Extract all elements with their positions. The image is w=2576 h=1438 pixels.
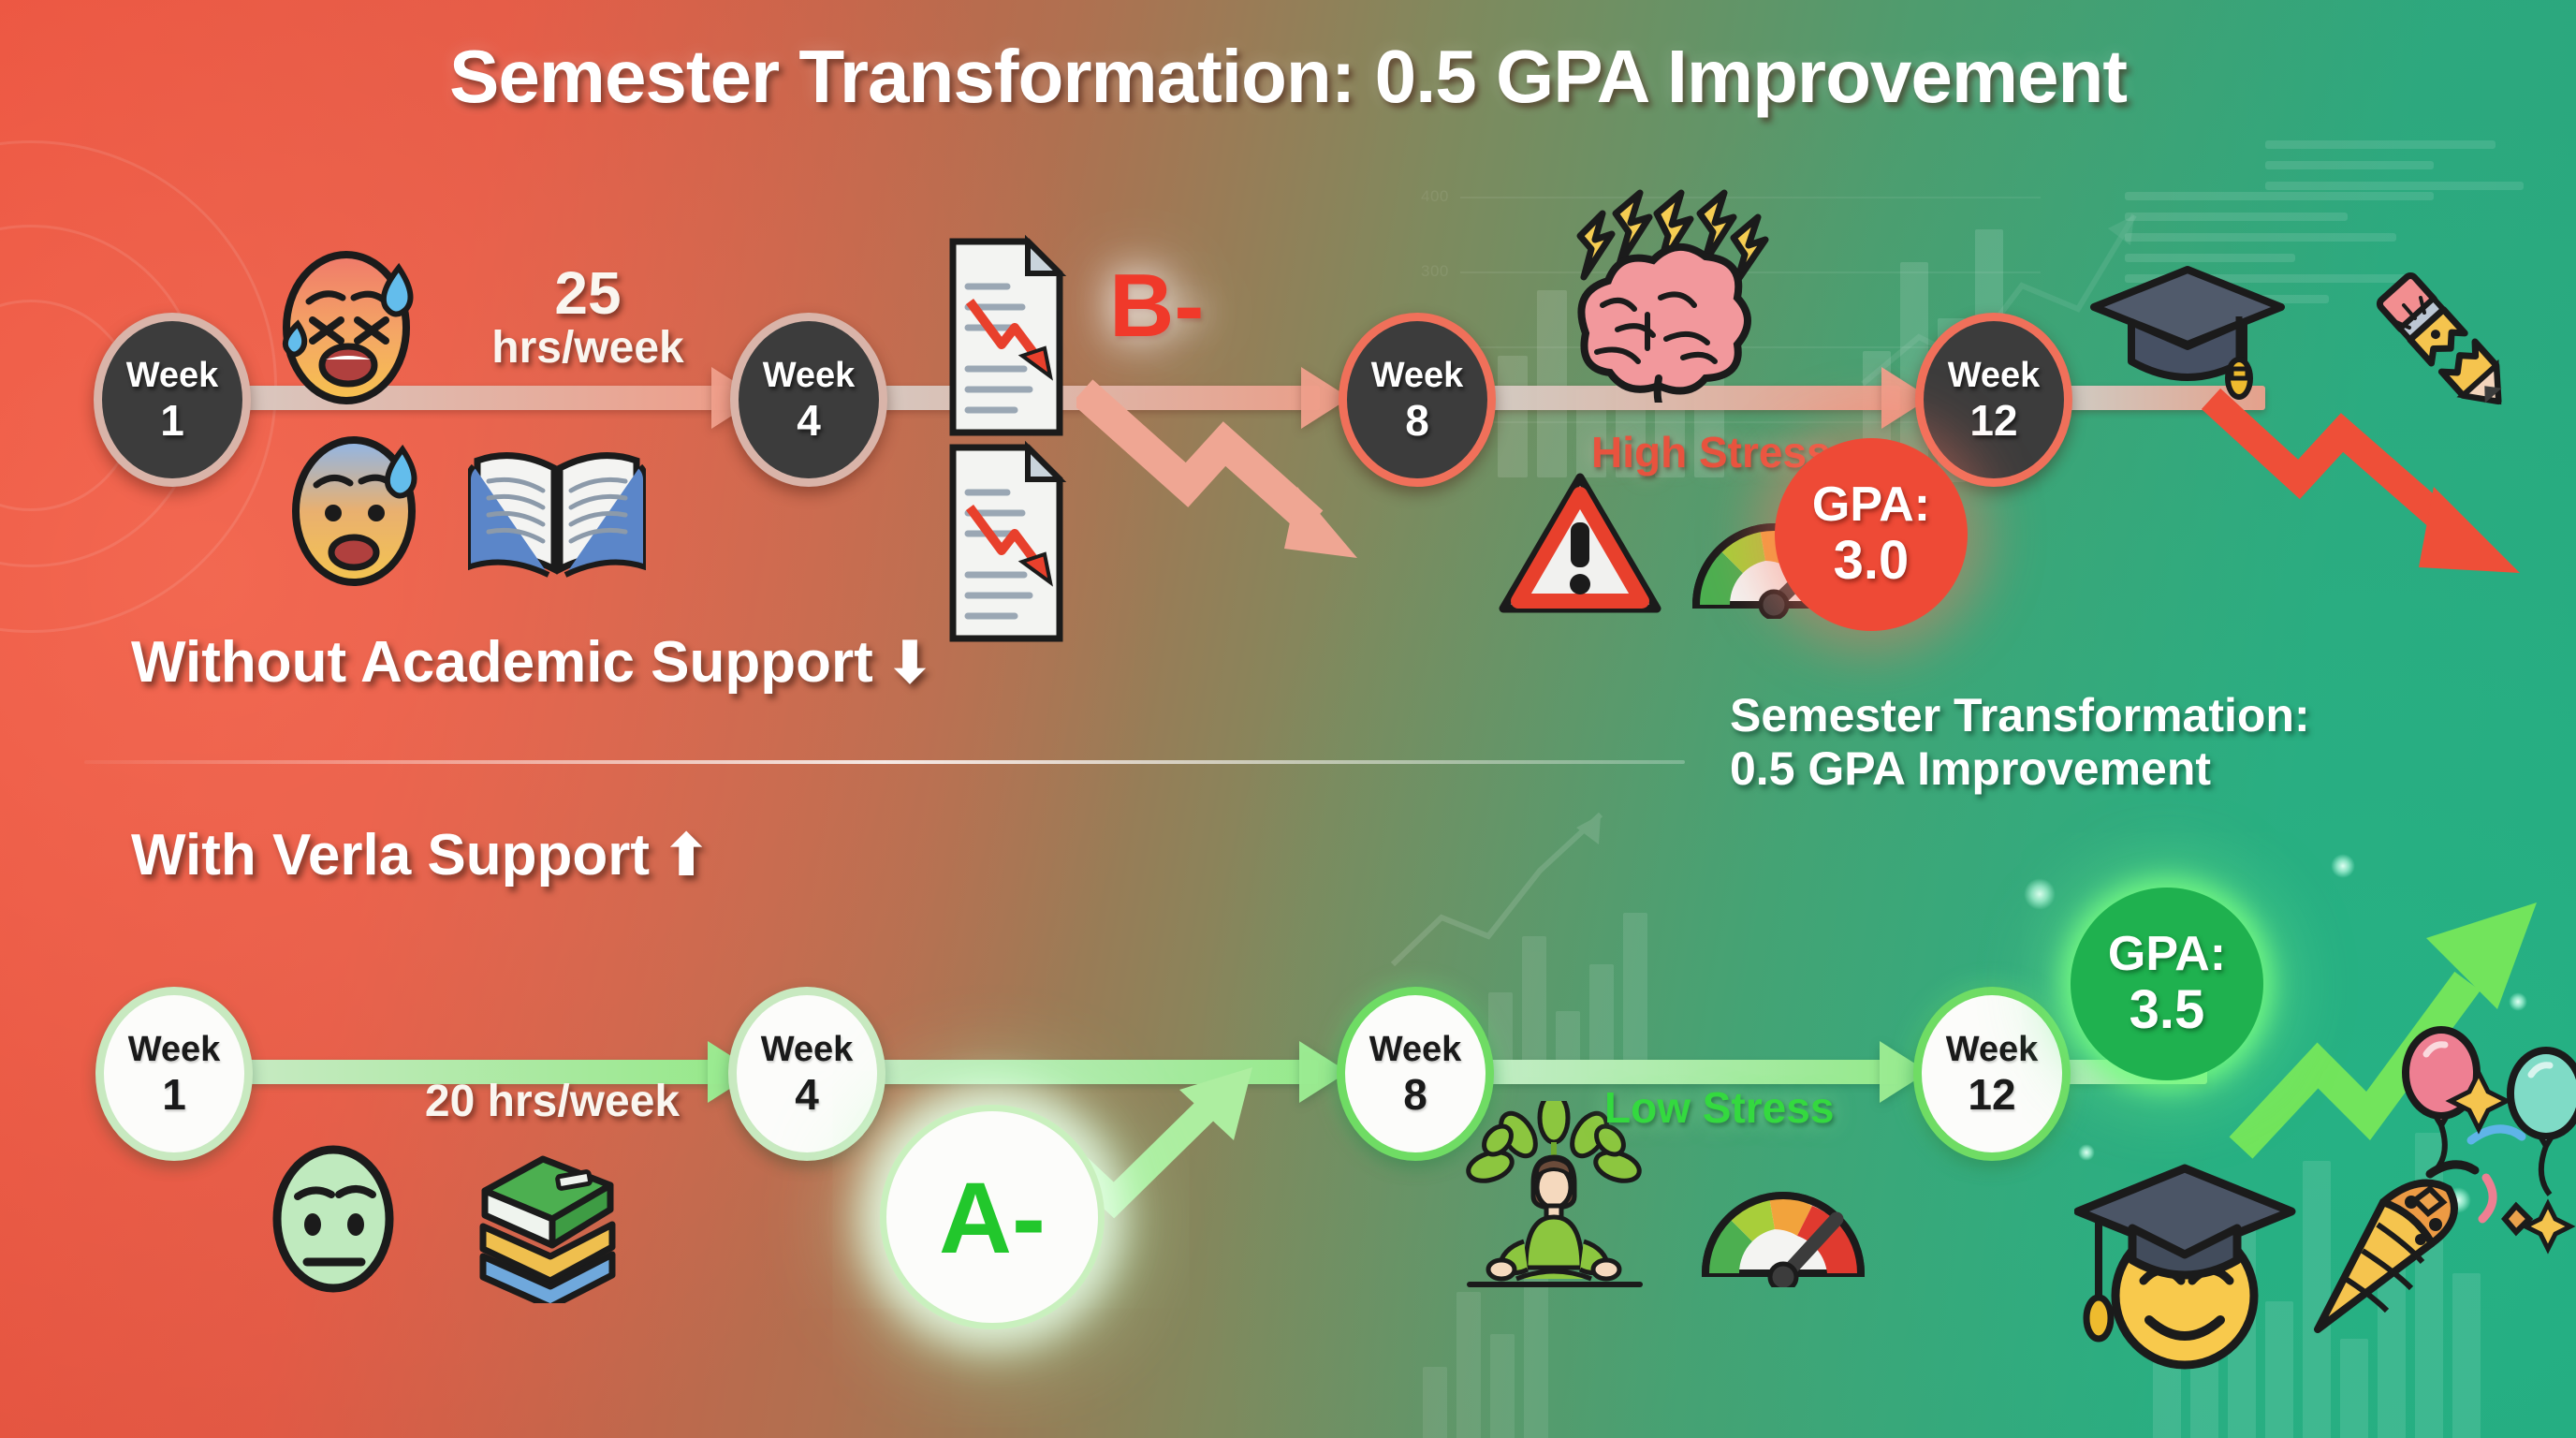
timeline-node-week-8[interactable]: Week 8 <box>1339 313 1496 487</box>
node-week-label: Week <box>1948 358 2041 393</box>
section-divider <box>84 760 1685 764</box>
timeline-node-week-12[interactable]: Week 12 <box>1915 313 2072 487</box>
timeline-segment-week8-week12-bottom <box>1486 1060 1898 1084</box>
grade-badge-bottom: A- <box>880 1105 1105 1329</box>
arrow-up-icon: ⬆ <box>663 824 710 887</box>
declining-chart-document-icon <box>945 234 1067 440</box>
axis-tick-label: 300 <box>1421 262 1449 281</box>
broken-pencil-icon <box>2368 266 2518 420</box>
gpa-label: GPA: <box>2108 929 2226 980</box>
node-week-label: Week <box>1946 1032 2039 1067</box>
grade-badge-top: B- <box>1109 255 1204 358</box>
section-label-text: With Verla Support <box>131 823 650 888</box>
node-week-label: Week <box>1369 1032 1462 1067</box>
caption-line-2: 0.5 GPA Improvement <box>1730 742 2310 796</box>
node-week-label: Week <box>763 358 856 393</box>
node-week-number: 8 <box>1403 1073 1427 1116</box>
axis-tick-label: 400 <box>1421 187 1449 206</box>
balloons-icon <box>2393 1026 2576 1269</box>
arrow-down-icon: ⬇ <box>886 631 933 694</box>
node-week-number: 4 <box>797 399 821 442</box>
node-week-number: 1 <box>162 1073 186 1116</box>
gpa-badge-top: GPA: 3.0 <box>1775 438 1968 631</box>
page-title: Semester Transformation: 0.5 GPA Improve… <box>0 34 2576 120</box>
timeline-node-week-4[interactable]: Week 4 <box>730 313 887 487</box>
timeline-node-week-1[interactable]: Week 1 <box>94 313 251 487</box>
timeline-node-week-12-bottom[interactable]: Week 12 <box>1913 987 2071 1161</box>
graduation-cap-icon <box>2089 258 2291 408</box>
node-week-number: 1 <box>160 399 184 442</box>
gpa-value: 3.5 <box>2130 982 2205 1039</box>
warning-triangle-icon <box>1496 468 1664 618</box>
node-week-label: Week <box>761 1032 854 1067</box>
anguished-sweat-face-icon <box>271 234 431 417</box>
declining-branch-arrow-icon <box>1076 374 1376 571</box>
stacked-books-icon <box>468 1144 627 1303</box>
hours-value: 25 <box>447 262 728 325</box>
stress-gauge-low-icon <box>1694 1152 1872 1287</box>
worried-sweat-face-icon <box>281 421 435 594</box>
gpa-value: 3.0 <box>1834 533 1910 590</box>
summary-caption: Semester Transformation: 0.5 GPA Improve… <box>1730 689 2310 796</box>
section-label-text: Without Academic Support <box>131 630 873 695</box>
study-hours-bottom: 20 hrs/week <box>402 1078 702 1125</box>
node-week-number: 8 <box>1405 399 1429 442</box>
stress-label-bottom: Low Stress <box>1604 1082 1834 1133</box>
gpa-badge-bottom: GPA: 3.5 <box>2071 888 2263 1080</box>
node-week-number: 12 <box>1969 399 2017 442</box>
caption-line-1: Semester Transformation: <box>1730 689 2310 742</box>
gpa-label: GPA: <box>1812 479 1930 531</box>
hours-unit: hrs/week <box>447 325 728 372</box>
timeline-node-week-4-bottom[interactable]: Week 4 <box>728 987 885 1161</box>
node-week-label: Week <box>128 1032 221 1067</box>
declining-chart-document-icon <box>945 440 1067 646</box>
neutral-face-icon <box>262 1133 407 1301</box>
grade-text: A- <box>939 1159 1046 1276</box>
node-week-label: Week <box>1371 358 1464 393</box>
study-hours-top: 25 hrs/week <box>447 262 728 373</box>
section-label-with-verla: With Verla Support⬆ <box>131 822 710 888</box>
timeline-node-week-1-bottom[interactable]: Week 1 <box>95 987 253 1161</box>
infographic-canvas: 400 300 200 100 <box>0 0 2576 1438</box>
graduating-student-icon <box>2074 1150 2299 1374</box>
background-trend-line-watermark <box>1385 796 1629 983</box>
section-label-without-support: Without Academic Support⬇ <box>131 629 933 696</box>
background-text-lines-watermark <box>2265 140 2546 202</box>
open-book-icon <box>468 440 646 580</box>
node-week-number: 4 <box>795 1073 819 1116</box>
stressed-brain-lightning-icon <box>1526 187 1778 403</box>
node-week-label: Week <box>126 358 219 393</box>
sparkle-icon <box>2024 878 2056 910</box>
background-bar-chart-watermark <box>1488 889 1647 1077</box>
node-week-number: 12 <box>1968 1073 2015 1116</box>
